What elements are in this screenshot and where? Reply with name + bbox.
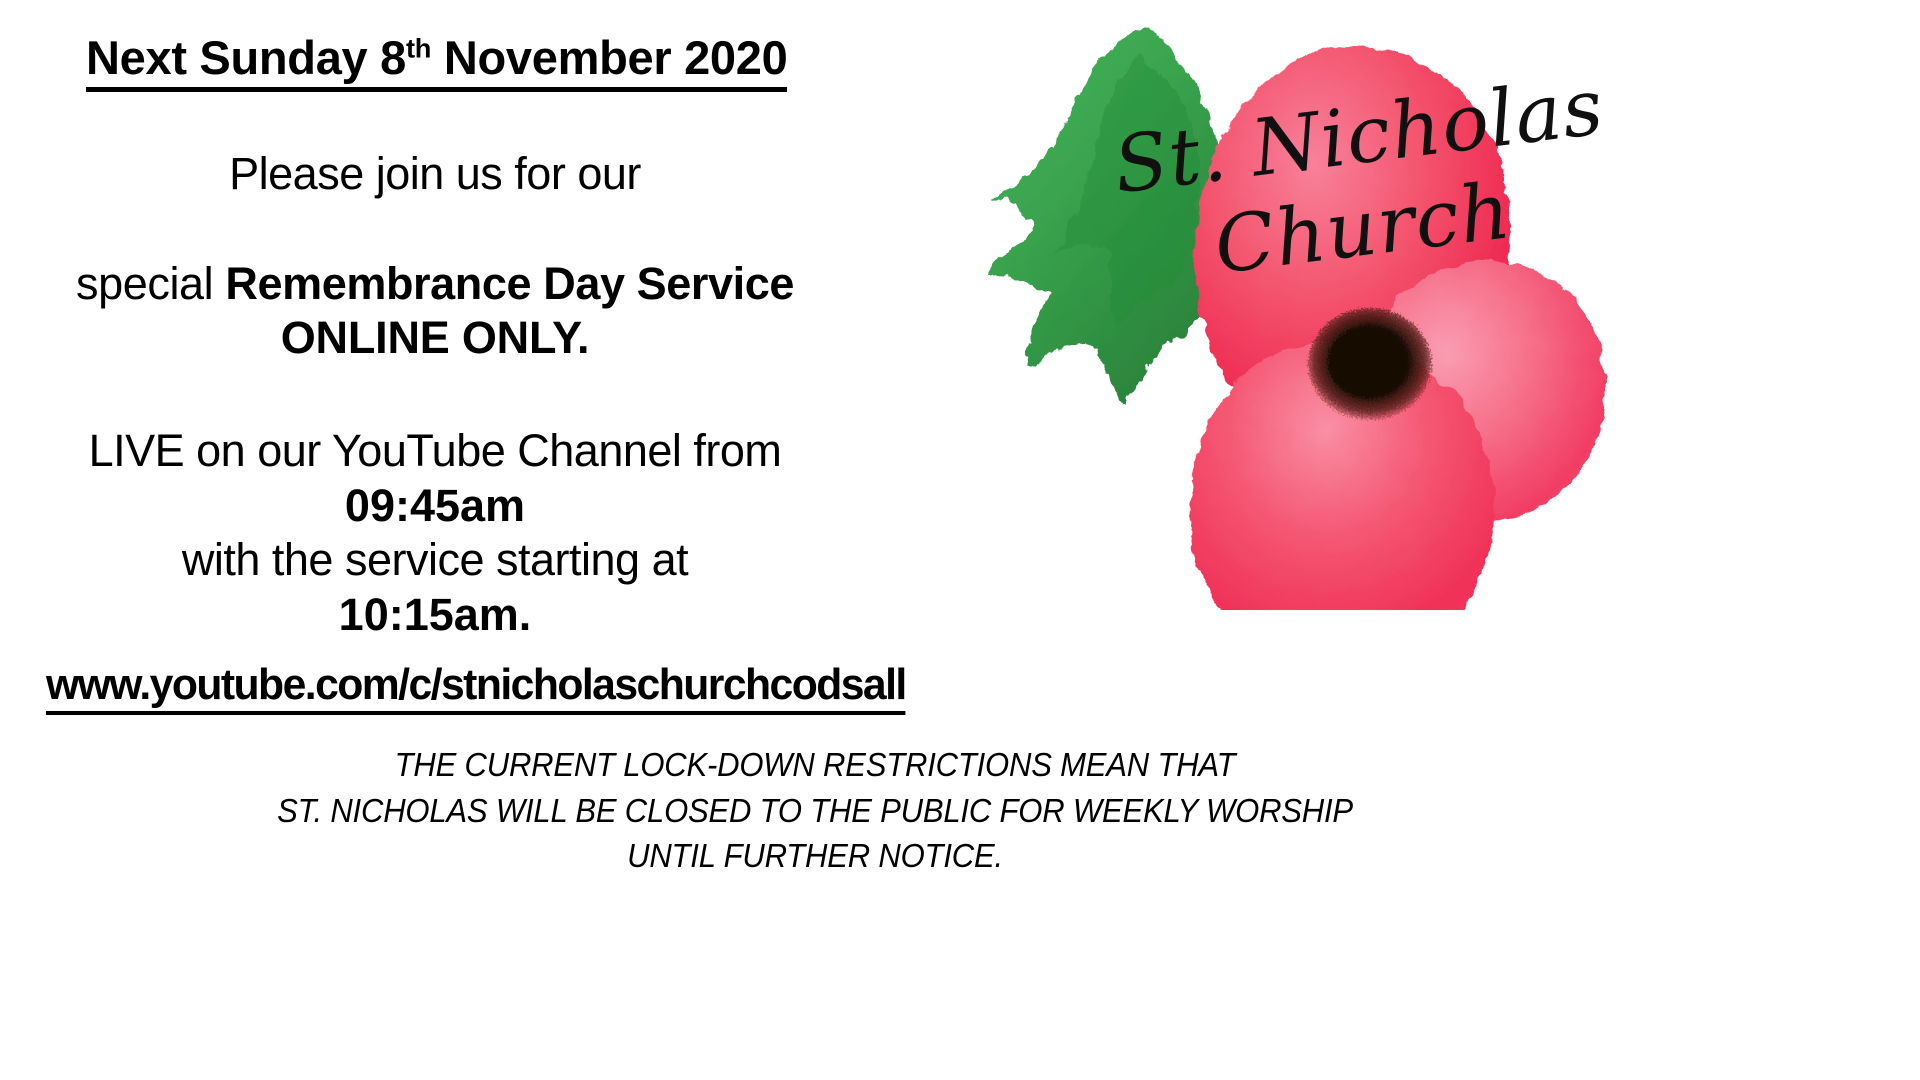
service-start-time: 10:15am. [0, 589, 870, 641]
notice-line-3: UNTIL FURTHER NOTICE. [49, 833, 1581, 879]
service-start-label: with the service starting at [0, 534, 870, 586]
headline-suffix: November 2020 [431, 31, 787, 84]
lockdown-notice: THE CURRENT LOCK-DOWN RESTRICTIONS MEAN … [49, 742, 1581, 879]
service-line-prefix: special [76, 258, 225, 309]
notice-line-1: THE CURRENT LOCK-DOWN RESTRICTIONS MEAN … [49, 742, 1581, 788]
notice-line-2: ST. NICHOLAS WILL BE CLOSED TO THE PUBLI… [49, 788, 1581, 834]
stream-start-time: 09:45am [0, 480, 870, 532]
service-name: Remembrance Day Service [225, 258, 794, 309]
invitation-line: Please join us for our [0, 148, 870, 200]
online-only-line: ONLINE ONLY. [0, 312, 870, 364]
poster-canvas: St. Nicholas Church Next Sunday 8th Nove… [0, 0, 1920, 1080]
text-column: Next Sunday 8th November 2020 Please joi… [0, 0, 1030, 1080]
live-stream-line: LIVE on our YouTube Channel from [0, 425, 870, 477]
poppy-centre [1308, 308, 1432, 420]
service-line: special Remembrance Day Service [0, 258, 870, 310]
headline-ordinal: th [406, 32, 431, 63]
youtube-channel-link[interactable]: www.youtube.com/c/stnicholaschurchcodsal… [46, 660, 906, 715]
watercolour-poppy-artwork [960, 0, 1660, 610]
headline-prefix: Next Sunday 8 [86, 31, 406, 84]
page-title: Next Sunday 8th November 2020 [86, 32, 787, 92]
